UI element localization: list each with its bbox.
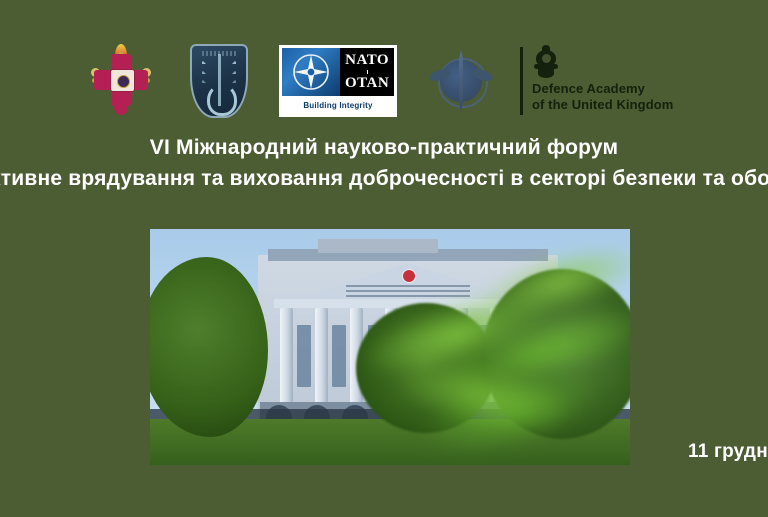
medal-center-roundel-icon [110, 69, 135, 92]
crimson-cross-medal-icon [88, 42, 154, 118]
forum-title: VI Міжнародний науково-практичний форум [0, 136, 768, 160]
defence-academy-rule [520, 47, 523, 115]
nato-tagline: Building Integrity [282, 98, 394, 113]
otan-label: OTAN [345, 76, 389, 91]
crown-icon [532, 45, 560, 79]
shield-body-icon [190, 44, 248, 118]
photo-tree-left [150, 257, 268, 437]
defence-academy-uk-logo: Defence Academy of the United Kingdom [520, 45, 695, 119]
venue-photo [150, 229, 630, 465]
presentation-slide: NATO OTAN Building Integrity [0, 0, 768, 517]
blue-emblem-sword-icon [459, 50, 463, 112]
nato-logo-top: NATO OTAN [282, 48, 394, 96]
photo-building-attic [318, 239, 438, 253]
nato-building-integrity-logo: NATO OTAN Building Integrity [279, 45, 397, 117]
nato-separator [367, 70, 368, 74]
nato-compass-star-icon [292, 53, 330, 91]
medal-bottom-icon [114, 99, 128, 115]
nato-label: NATO [345, 53, 389, 68]
crown-base-icon [538, 69, 554, 78]
photo-column [280, 308, 293, 402]
event-date: 11 грудня [688, 441, 768, 463]
forum-subtitle: Ефективне врядування та виховання доброч… [0, 167, 768, 191]
defence-academy-line1: Defence Academy [532, 81, 673, 97]
blue-globe-sword-icon [430, 50, 492, 112]
shield-serpent-icon [207, 84, 237, 116]
photo-column [315, 308, 328, 402]
navy-shield-serpent-icon [190, 44, 248, 118]
nato-wordmark-panel: NATO OTAN [340, 48, 394, 96]
logo-strip: NATO OTAN Building Integrity [0, 18, 768, 110]
defence-academy-text: Defence Academy of the United Kingdom [532, 81, 673, 113]
nato-compass-star-panel [282, 48, 340, 96]
crown-inner-icon [542, 54, 551, 63]
defence-academy-line2: of the United Kingdom [532, 97, 673, 113]
